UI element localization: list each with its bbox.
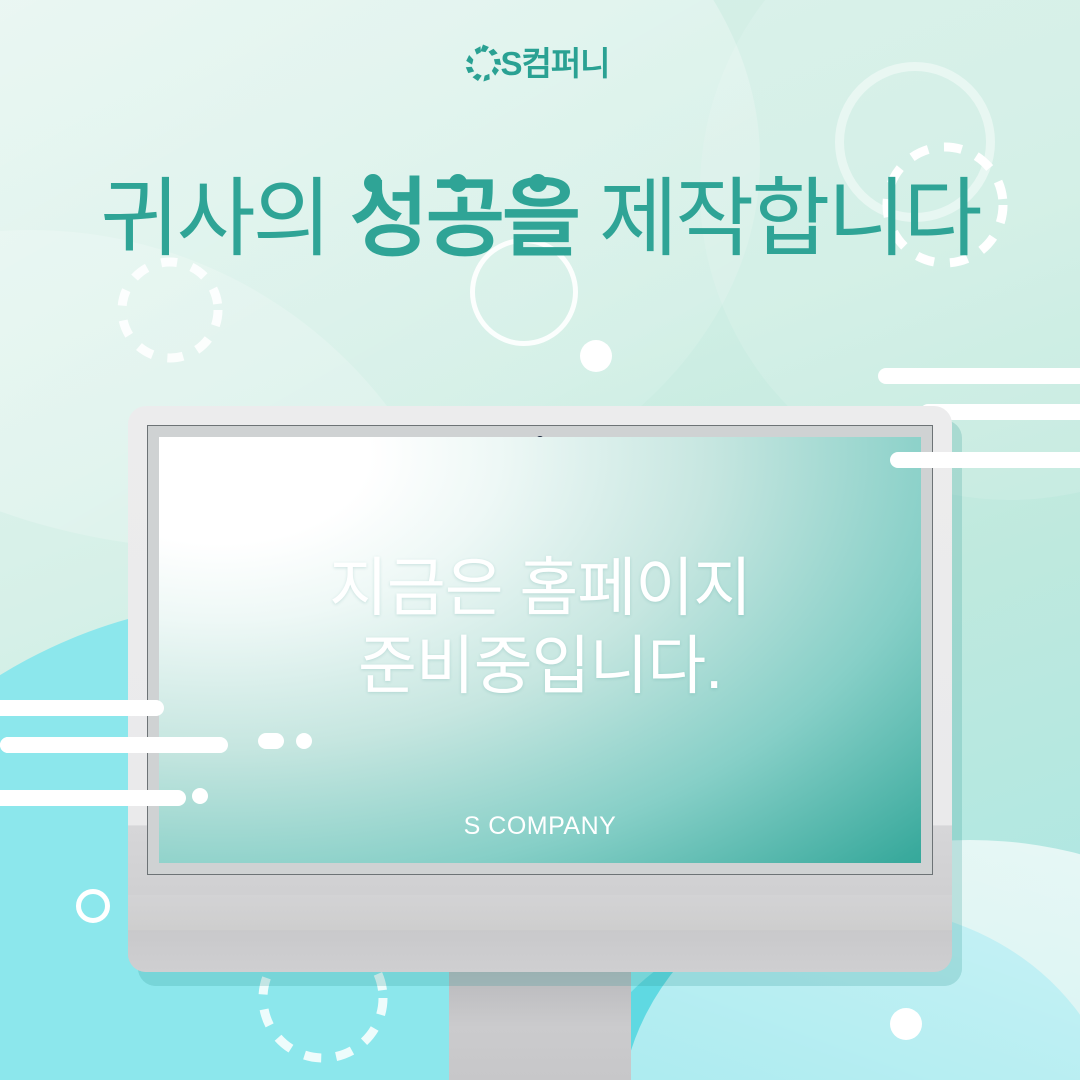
emphasis-dot-2: [449, 174, 467, 192]
monitor-bezel: 지금은 홈페이지 준비중입니다. S COMPANY: [147, 425, 933, 875]
dot-bottom-right: [890, 1008, 922, 1040]
circular-swirl-icon: [462, 42, 504, 84]
emphasis-dot-3: [529, 174, 547, 192]
monitor-screen: 지금은 홈페이지 준비중입니다. S COMPANY: [159, 437, 921, 863]
desktop-monitor: 지금은 홈페이지 준비중입니다. S COMPANY: [128, 406, 952, 972]
headline-part-1: 귀사의: [100, 171, 349, 267]
emphasis-dot-1: [364, 174, 382, 192]
monitor-stand-neck: [449, 972, 631, 1080]
brand-logo[interactable]: S컴퍼니: [0, 42, 1080, 84]
brand-logo-text: S컴퍼니: [500, 47, 609, 80]
speed-line-right-3: [890, 452, 1080, 468]
screen-headline-line-2: 준비중입니다.: [159, 627, 921, 705]
poster-canvas: S컴퍼니 귀사의 성공을 제작합니다 지금은 홈페이지 준비중입니다. S CO…: [0, 0, 1080, 1080]
speed-line-left-3-fg: [0, 790, 186, 806]
speed-line-left-1-fg: [0, 700, 164, 716]
screen-headline: 지금은 홈페이지 준비중입니다.: [159, 549, 921, 705]
screen-subtitle: S COMPANY: [159, 812, 921, 841]
monitor-chin: [128, 895, 952, 972]
speed-dash-1: [258, 733, 284, 749]
dot-center: [580, 340, 612, 372]
speed-dash-2: [296, 733, 312, 749]
headline-part-2: 제작합니다: [578, 171, 980, 267]
emphasis-dots: [342, 174, 572, 194]
dashed-circle-headline: [115, 255, 225, 365]
speed-line-left-2-fg: [0, 737, 228, 753]
ring-outline-bottom-left: [76, 889, 110, 923]
speed-line-right-1: [878, 368, 1080, 384]
speed-dash-3: [192, 788, 208, 804]
screen-headline-line-1: 지금은 홈페이지: [159, 549, 921, 627]
